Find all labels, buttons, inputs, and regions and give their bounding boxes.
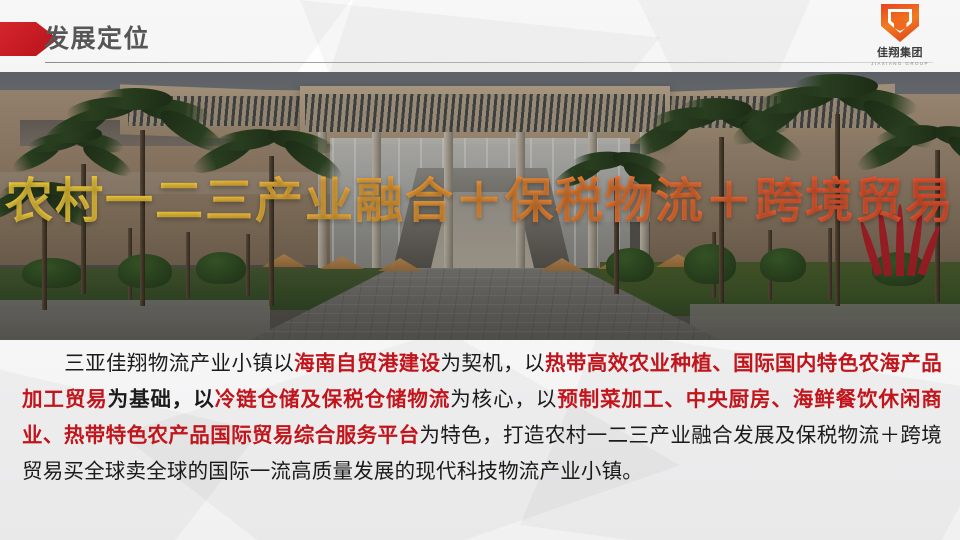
body-paragraph: 三亚佳翔物流产业小镇以海南自贸港建设为契机，以热带高效农业种植、国际国内特色农海… — [0, 346, 960, 490]
body-segment: 海南自贸港建设 — [294, 352, 440, 375]
shield-icon — [881, 4, 919, 42]
slide-root: 发展定位 佳翔集团 JIAXIANG GROUP — [0, 0, 960, 540]
logo-name-cn: 佳翔集团 — [877, 44, 923, 60]
hero-headline: 农村一二三产业融合＋保税物流＋跨境贸易 — [0, 160, 960, 232]
body-segment: 三亚佳翔物流产业小镇以 — [64, 352, 294, 375]
page-title: 发展定位 — [44, 22, 150, 56]
slide-header: 发展定位 — [0, 0, 960, 72]
body-segment: 为核心，以 — [450, 388, 557, 411]
logo-name-en: JIAXIANG GROUP — [871, 61, 929, 66]
body-segment: 冷链仓储及保税仓储物流 — [215, 388, 451, 411]
header-divider — [45, 62, 933, 63]
body-text-block: 三亚佳翔物流产业小镇以海南自贸港建设为契机，以热带高效农业种植、国际国内特色农海… — [0, 346, 960, 540]
company-logo: 佳翔集团 JIAXIANG GROUP — [854, 4, 946, 66]
body-segment: 为契机，以 — [441, 352, 546, 375]
body-segment: 为基础，以 — [108, 388, 215, 411]
